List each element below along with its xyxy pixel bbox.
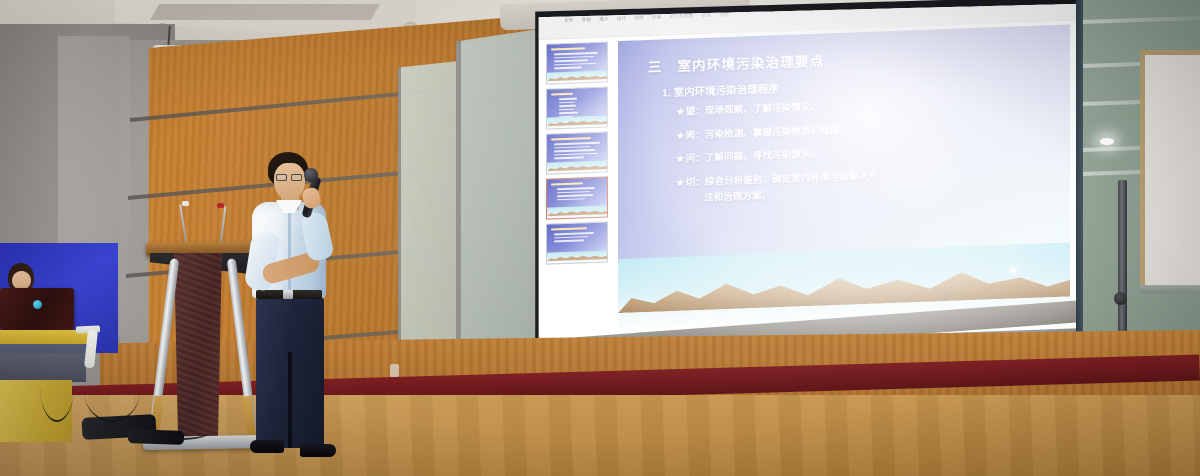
laptop-logo-icon [33, 300, 42, 309]
whiteboard-marker-tray [1140, 285, 1200, 293]
thumb-title-bar [551, 137, 591, 141]
ribbon-tab[interactable]: 插入 [599, 16, 609, 22]
thumb-body-lines [554, 142, 600, 162]
slide-thumbnail[interactable] [546, 221, 608, 264]
ribbon-tab[interactable]: 文件 [564, 18, 574, 24]
slide-bullet: ★切：综合分析鉴别、确定室内环境污染解决方 法和治理方案。 [676, 164, 1046, 206]
thumb-title-bar [551, 227, 587, 231]
powerpoint-window: 文件 开始 插入 设计 切换 动画 幻灯片放映 审阅 视图 [538, 2, 1078, 362]
ribbon-tab[interactable]: 动画 [652, 14, 662, 20]
ribbon-tab[interactable]: 视图 [719, 12, 729, 18]
floor-cable [40, 352, 74, 422]
star-icon: ★ [676, 107, 685, 118]
thumb-title-bar [551, 92, 573, 95]
glass-light-flare [1100, 138, 1114, 145]
thumb-mountain-graphic [547, 115, 607, 128]
wall-outlet-icon [390, 364, 399, 377]
slide-bullet: ★问：了解问题、寻找污染源头。 [676, 141, 1046, 167]
podium-mic-head-silver-icon [182, 201, 189, 206]
presenter-leg-split [288, 352, 292, 448]
ribbon-tab[interactable]: 切换 [634, 15, 644, 21]
star-icon: ★ [676, 178, 685, 189]
active-slide[interactable]: 三 室内环境污染治理要点 1. 室内环境污染治理程序 ★望：现场观察、了解污染情… [618, 24, 1070, 333]
ceiling-recess [150, 4, 380, 20]
slide-thumbnail-selected[interactable] [546, 176, 608, 219]
lecture-hall-photo: 文件 开始 插入 设计 切换 动画 幻灯片放映 审阅 视图 [0, 0, 1200, 476]
whiteboard-height-knob[interactable] [1114, 292, 1127, 305]
star-icon: ★ [676, 154, 685, 165]
ribbon-tab[interactable]: 设计 [617, 16, 627, 22]
thumb-mountain-graphic [547, 250, 607, 263]
podium-mic-head-red-icon [217, 203, 224, 208]
thumb-mountain-graphic [547, 160, 607, 173]
handheld-microphone-head-icon [304, 168, 318, 182]
slide-thumbnail[interactable] [546, 86, 608, 129]
bullet-text: 切：综合分析鉴别、确定室内环境污染解决方 [686, 171, 878, 189]
thumb-title-bar [551, 182, 583, 186]
thumb-title-bar [551, 47, 585, 51]
ribbon-tab[interactable]: 开始 [582, 17, 592, 23]
thumb-body-lines [554, 52, 598, 72]
podium-body [172, 253, 224, 448]
slide-thumbnail[interactable] [546, 131, 608, 174]
slide-thumbnail-panel[interactable] [546, 41, 612, 335]
bullet-text: 闻：污染检测、掌握污染物质和程度。 [686, 124, 849, 141]
mobile-whiteboard [1140, 50, 1200, 290]
presenter-shirt-placket [288, 210, 291, 296]
slide-subtitle: 1. 室内环境污染治理程序 [662, 81, 779, 100]
presenter-shoe-left [250, 440, 284, 453]
ribbon-tab[interactable]: 审阅 [702, 13, 712, 19]
slide-title: 三 室内环境污染治理要点 [648, 49, 824, 75]
thumb-mountain-graphic [547, 70, 607, 83]
thumb-mountain-graphic [547, 205, 607, 218]
glasses-icon [276, 174, 305, 182]
laptop [0, 288, 74, 330]
projection-screen: 文件 开始 插入 设计 切换 动画 幻灯片放映 审阅 视图 [530, 2, 1078, 382]
slide-thumbnail[interactable] [546, 41, 608, 84]
slide-bullet: ★闻：污染检测、掌握污染物质和程度。 [676, 117, 1046, 143]
floor-cable [150, 424, 210, 440]
bullet-text: 问：了解问题、寻找污染源头。 [686, 149, 820, 165]
ribbon-tab[interactable]: 幻灯片放映 [670, 13, 694, 20]
thumb-body-lines [557, 187, 595, 203]
bullet-text: 望：现场观察、了解污染情况。 [686, 102, 820, 118]
presenter-shoe-right [300, 444, 336, 457]
slide-bullet-list: ★望：现场观察、了解污染情况。 ★闻：污染检测、掌握污染物质和程度。 ★问：了解… [676, 93, 1046, 217]
thumb-body-lines [554, 232, 594, 244]
star-icon: ★ [676, 130, 685, 141]
presenter-belt-buckle [283, 290, 293, 299]
floor-cable [84, 360, 140, 422]
